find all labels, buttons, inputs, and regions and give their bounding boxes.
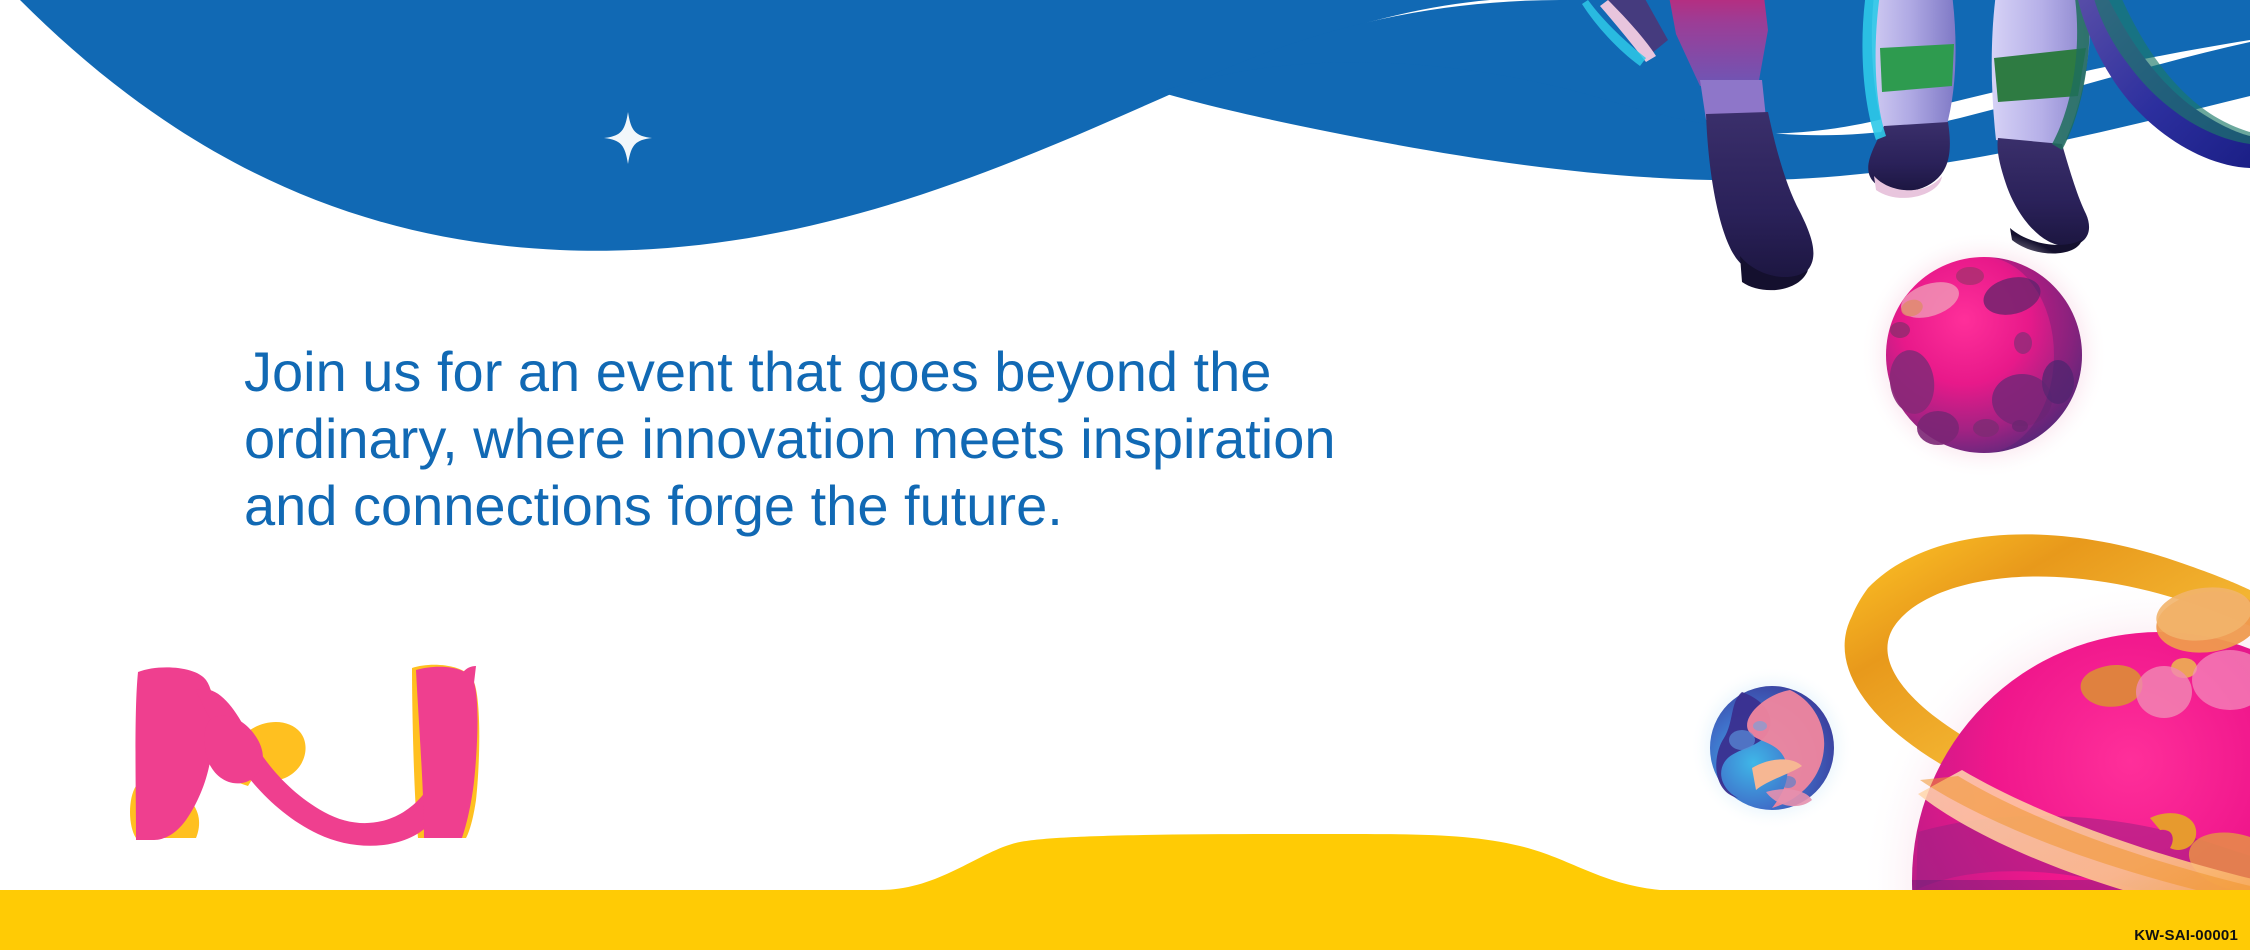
sparkle-star-icon (604, 112, 652, 164)
slide-reference-code: KW-SAI-00001 (2134, 926, 2238, 946)
blue-wave-shape (20, 0, 2250, 251)
m-logo (130, 665, 479, 846)
pink-cratered-planet (1860, 231, 2108, 479)
small-blue-planet (1690, 666, 1854, 830)
headline-text: Join us for an event that goes beyond th… (244, 338, 1504, 539)
ringed-planet (1845, 534, 2250, 950)
astronaut-legs-illustration (1582, 0, 2250, 290)
slide-canvas: Join us for an event that goes beyond th… (0, 0, 2250, 950)
yellow-wave-shape (0, 834, 2250, 950)
